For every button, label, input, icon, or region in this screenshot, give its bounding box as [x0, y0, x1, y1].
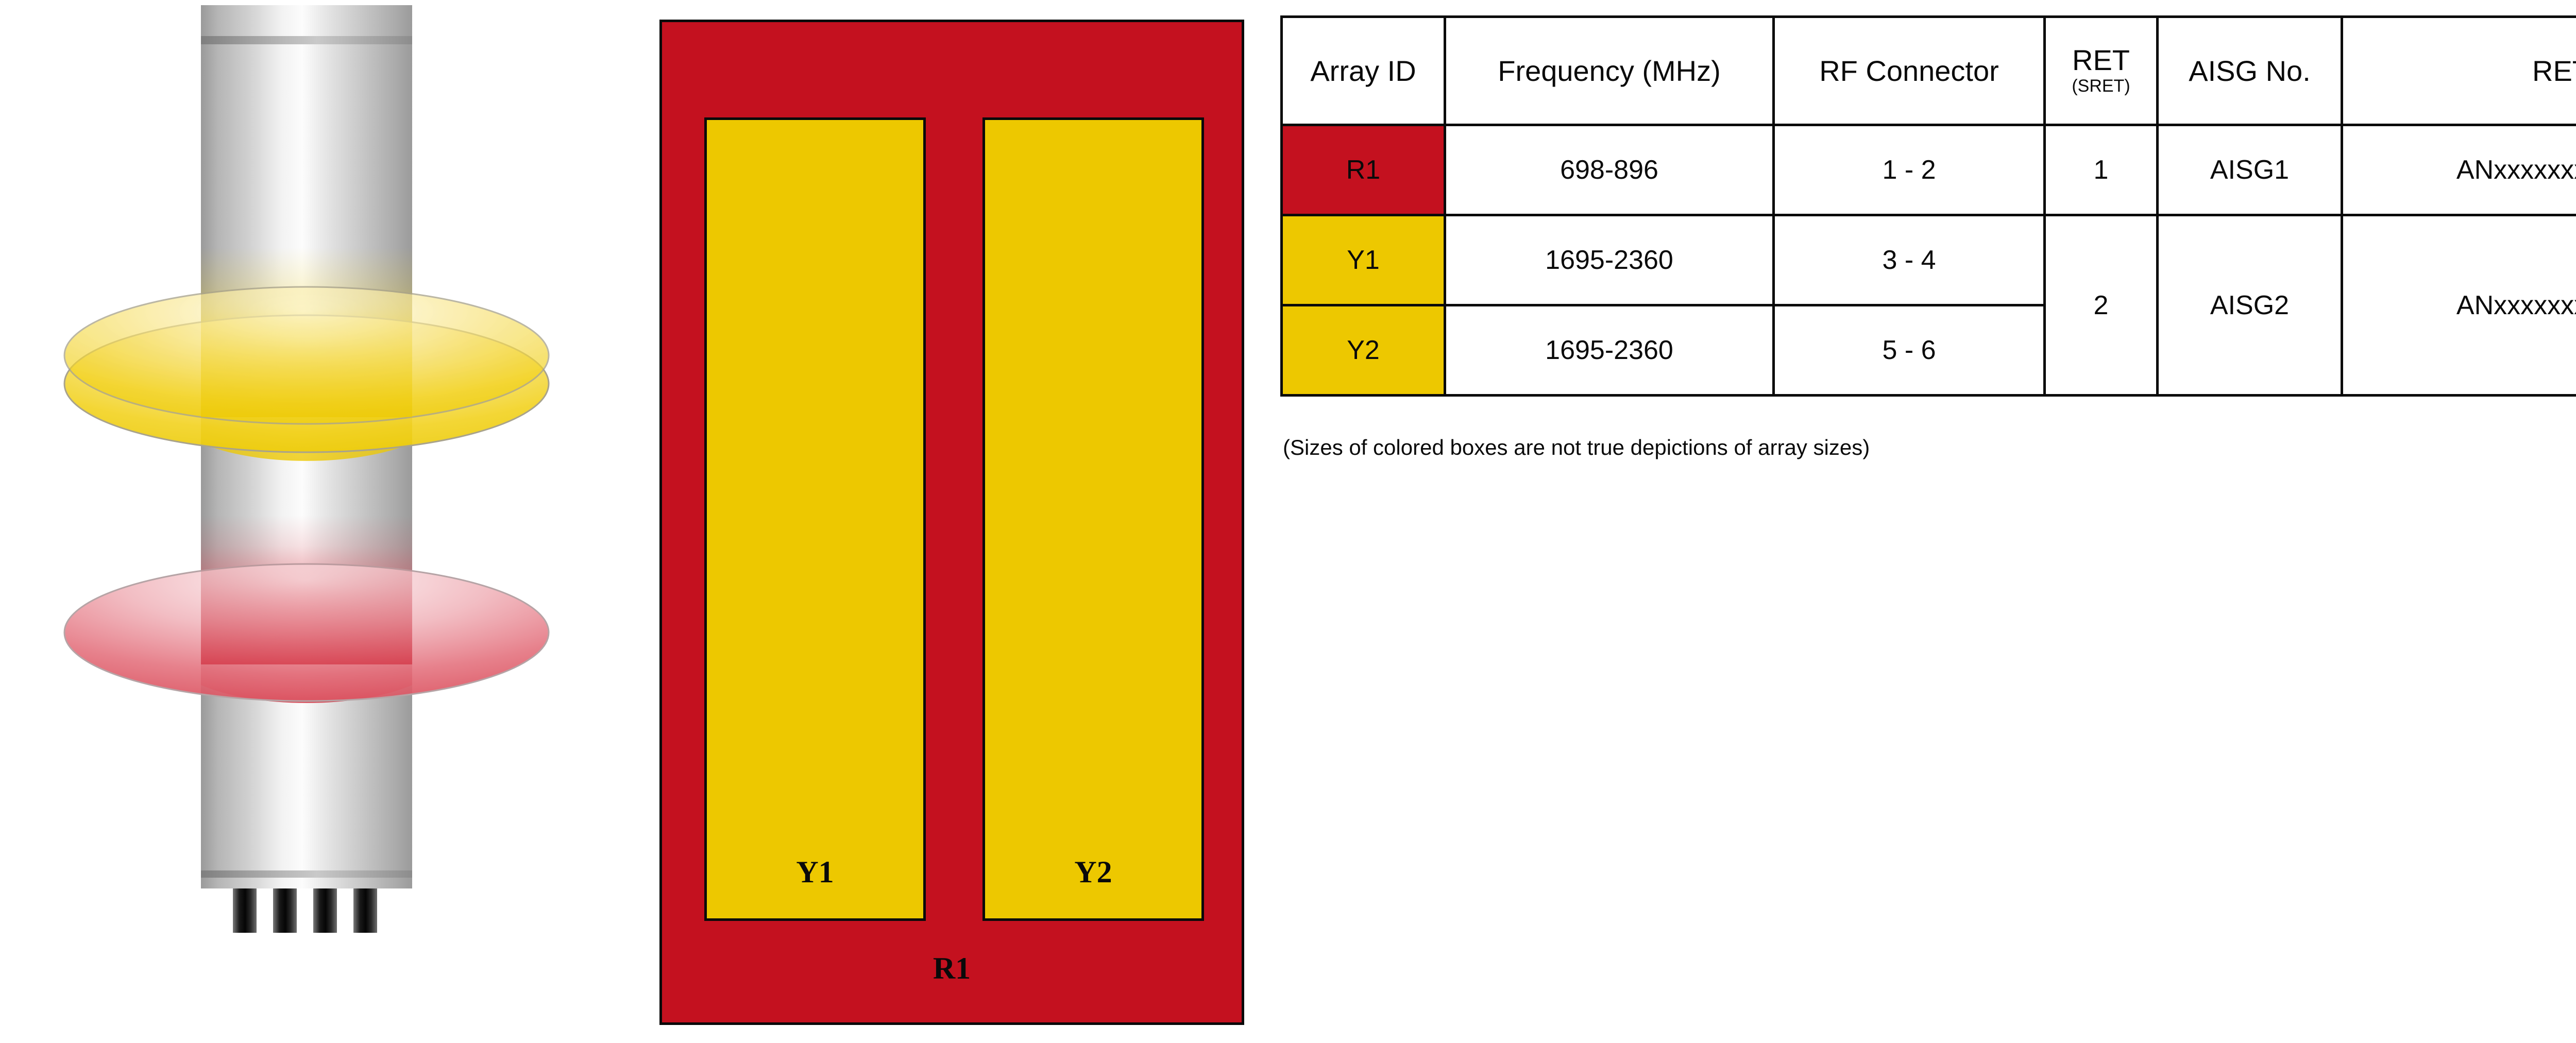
cell-rf-connector: 1 - 2: [1774, 125, 2045, 215]
red-coverage-lobe: [64, 515, 549, 703]
cell-frequency: 698-896: [1445, 125, 1774, 215]
column-header-aisg-no: AISG No.: [2158, 17, 2342, 125]
table-row: Y1 1695-2360 3 - 4 2 AISG2 ANxxxxxxxxxxx…: [1282, 215, 2576, 305]
column-header-rf-connector: RF Connector: [1774, 17, 2045, 125]
yellow-coverage-lobe: [64, 247, 549, 461]
connector-pins: [233, 888, 377, 933]
array-table-container: Array ID Frequency (MHz) RF Connector RE…: [1280, 15, 2576, 397]
cell-array-id: R1: [1282, 125, 1445, 215]
cell-frequency: 1695-2360: [1445, 215, 1774, 305]
table-header: Array ID Frequency (MHz) RF Connector RE…: [1282, 17, 2576, 125]
antenna-illustration: [0, 0, 639, 1040]
table-header-row: Array ID Frequency (MHz) RF Connector RE…: [1282, 17, 2576, 125]
cell-ret: 2: [2045, 215, 2158, 396]
cell-ret-uid: ANxxxxxxxxxxxxxxxx1: [2342, 125, 2576, 215]
antenna-illustration-svg: [0, 0, 639, 1040]
cell-rf-connector: 3 - 4: [1774, 215, 2045, 305]
array-specification-table: Array ID Frequency (MHz) RF Connector RE…: [1280, 15, 2576, 397]
cell-aisg-no: AISG2: [2158, 215, 2342, 396]
column-header-array-id: Array ID: [1282, 17, 1445, 125]
array-box-y1: Y1: [704, 117, 926, 921]
cell-aisg-no: AISG1: [2158, 125, 2342, 215]
cell-frequency: 1695-2360: [1445, 305, 1774, 396]
cell-array-id: Y2: [1282, 305, 1445, 396]
column-header-ret-main: RET: [2046, 45, 2156, 75]
column-header-frequency: Frequency (MHz): [1445, 17, 1774, 125]
cell-ret: 1: [2045, 125, 2158, 215]
array-box-y2-label: Y2: [1074, 857, 1112, 918]
column-header-ret: RET (SRET): [2045, 17, 2158, 125]
array-layout-diagram: Y1 Y2 R1: [659, 20, 1244, 1025]
cell-ret-uid: ANxxxxxxxxxxxxxxxx2: [2342, 215, 2576, 396]
array-box-y2: Y2: [982, 117, 1204, 921]
array-panel-label-r1: R1: [662, 951, 1242, 986]
table-body: R1 698-896 1 - 2 1 AISG1 ANxxxxxxxxxxxxx…: [1282, 125, 2576, 396]
table-footnote: (Sizes of colored boxes are not true dep…: [1283, 435, 1870, 460]
cell-rf-connector: 5 - 6: [1774, 305, 2045, 396]
column-header-ret-sub: (SRET): [2046, 77, 2156, 96]
array-box-y1-label: Y1: [796, 857, 834, 918]
cell-array-id: Y1: [1282, 215, 1445, 305]
table-row: R1 698-896 1 - 2 1 AISG1 ANxxxxxxxxxxxxx…: [1282, 125, 2576, 215]
column-header-ret-uid: RET UID: [2342, 17, 2576, 125]
